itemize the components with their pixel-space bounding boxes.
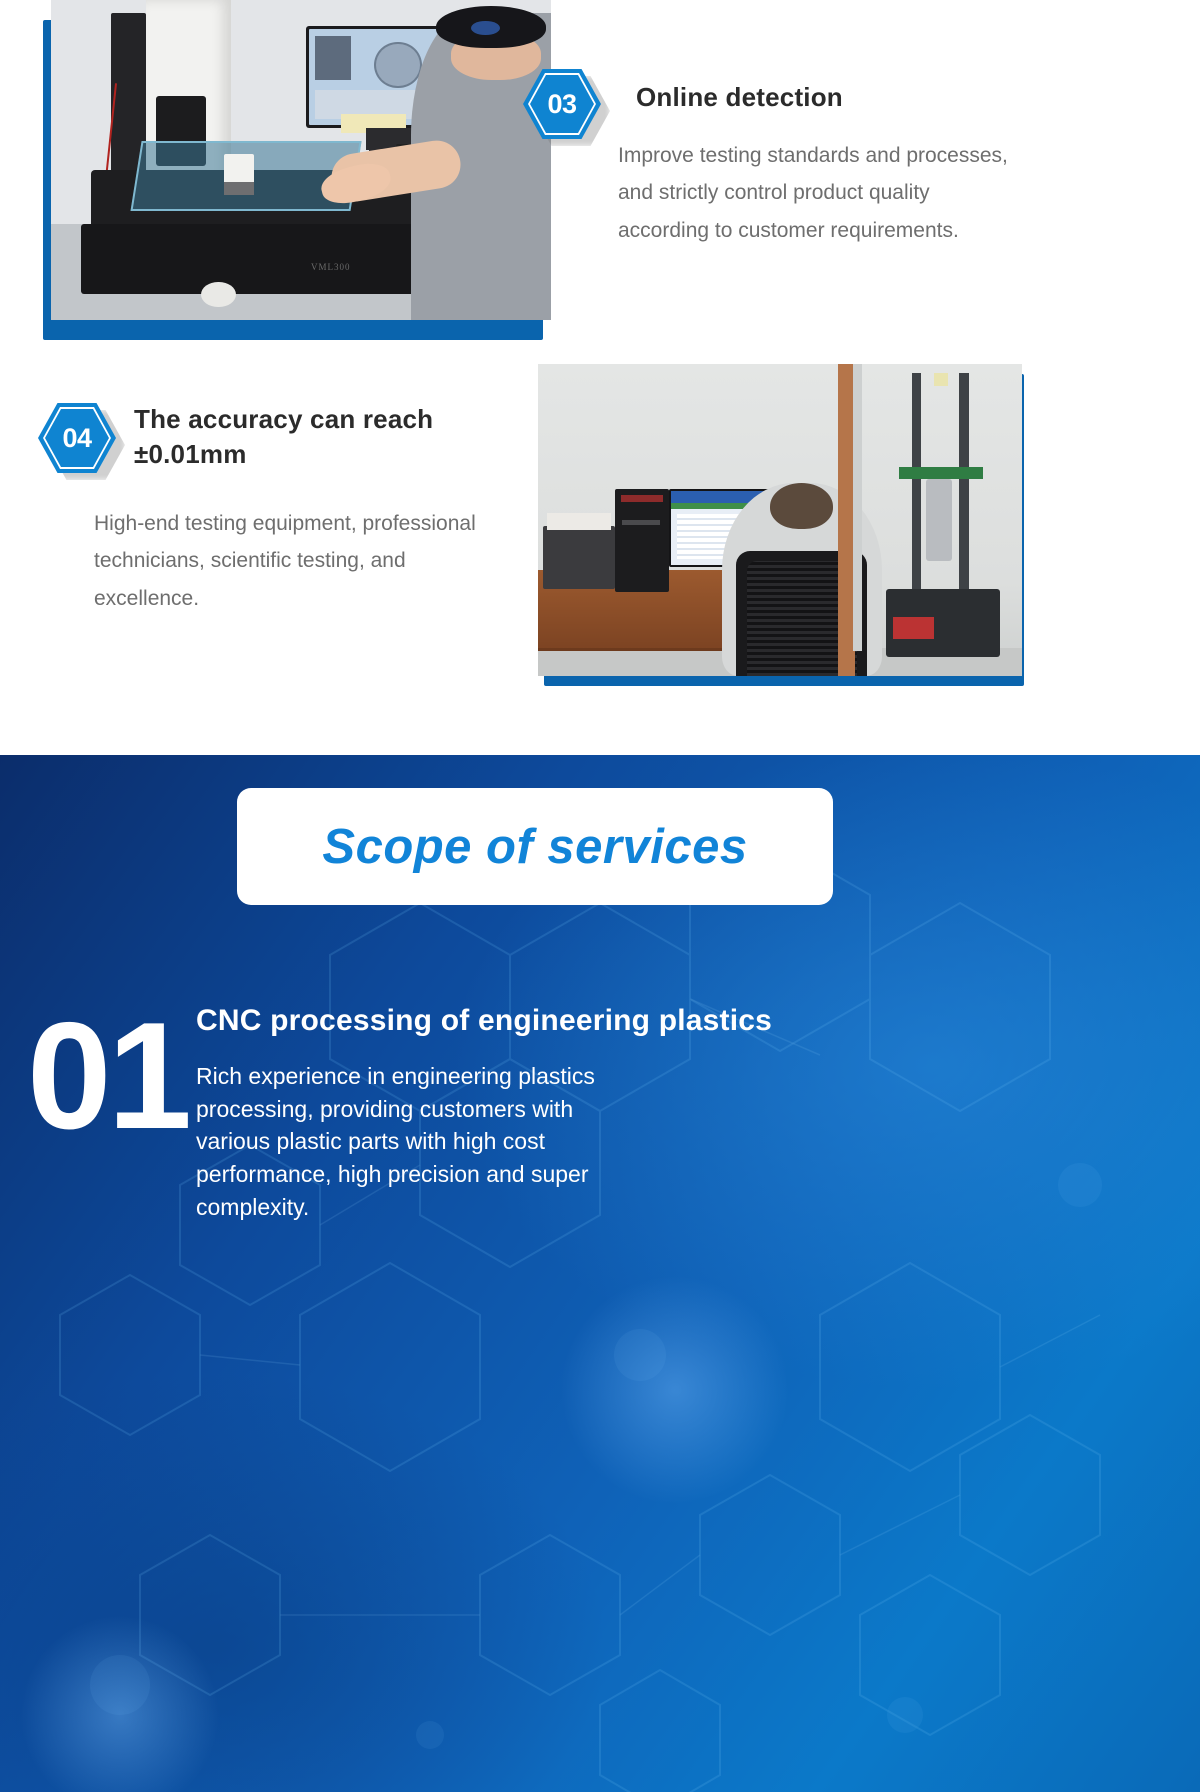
online-detection-photo: VML300 bbox=[51, 0, 551, 320]
accuracy-testing-photo bbox=[538, 364, 1022, 676]
scope-title-card: Scope of services bbox=[237, 788, 833, 905]
product-feature-page: VML300 03 Online detection Improve testi… bbox=[0, 0, 1200, 1792]
feature-03-body: Improve testing standards and processes,… bbox=[618, 137, 1008, 249]
feature-number-04: 04 bbox=[38, 403, 116, 473]
feature-number-03: 03 bbox=[523, 69, 601, 139]
feature-badge-03: 03 bbox=[523, 69, 601, 139]
scope-title: Scope of services bbox=[322, 819, 747, 875]
feature-04-body: High-end testing equipment, professional… bbox=[94, 505, 514, 617]
service-01-body: Rich experience in engineering plastics … bbox=[196, 1060, 601, 1223]
feature-03-title: Online detection bbox=[636, 80, 1036, 115]
feature-04-photo-frame bbox=[530, 360, 1030, 690]
feature-04-title: The accuracy can reach ±0.01mm bbox=[134, 402, 484, 472]
machine-model-label: VML300 bbox=[311, 262, 351, 272]
service-01-title: CNC processing of engineering plastics bbox=[196, 1004, 936, 1038]
feature-badge-04: 04 bbox=[38, 403, 116, 473]
scope-of-services-section: Scope of services 01 CNC processing of e… bbox=[0, 755, 1200, 1792]
cnc-plastic-part-image bbox=[612, 1785, 1032, 1792]
features-white-section: VML300 03 Online detection Improve testi… bbox=[0, 0, 1200, 865]
feature-03-photo-frame: VML300 bbox=[23, 0, 563, 345]
service-number-01: 01 bbox=[27, 1000, 188, 1152]
